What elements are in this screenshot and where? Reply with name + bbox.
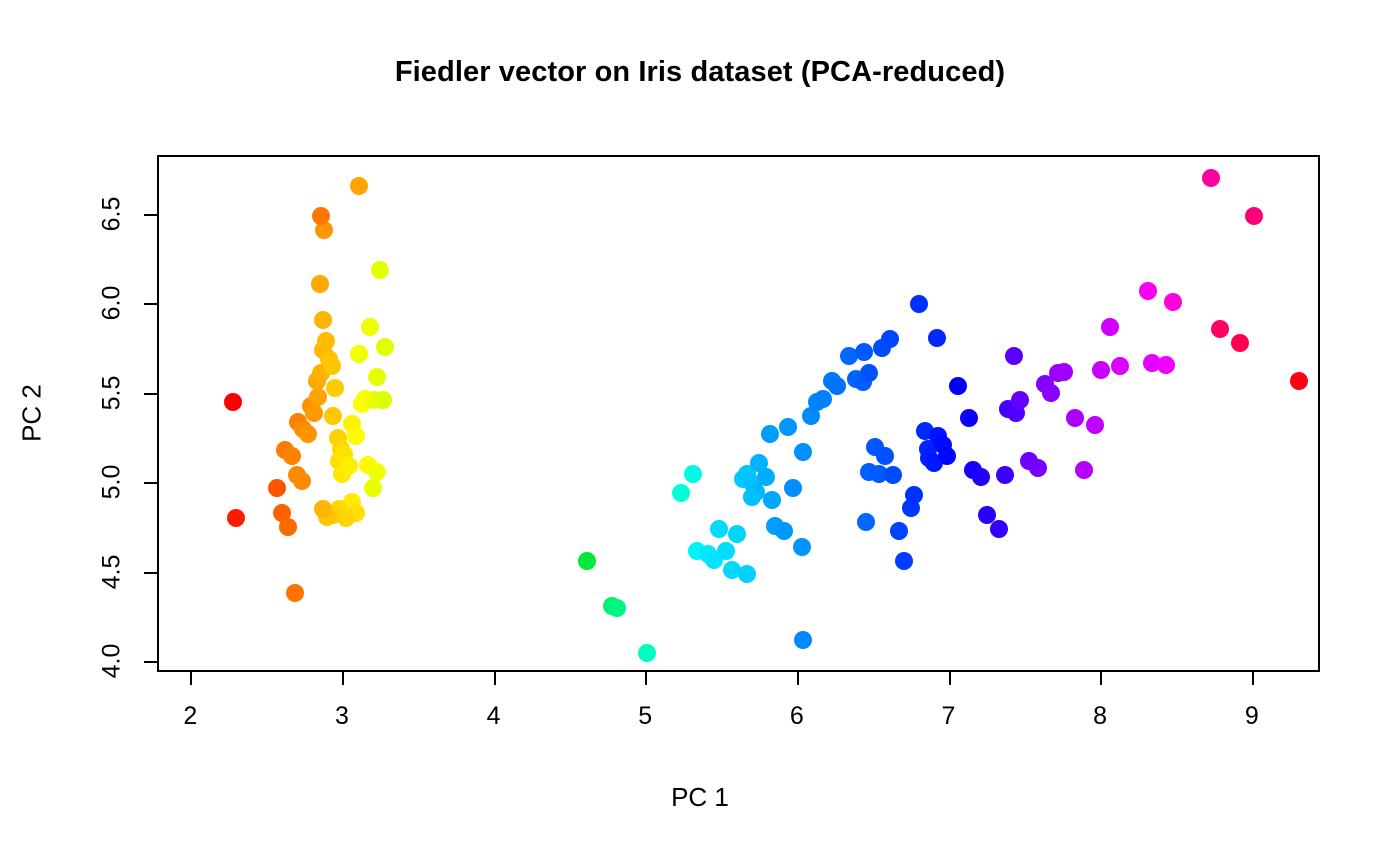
data-point bbox=[340, 457, 358, 475]
data-point bbox=[368, 368, 386, 386]
x-axis-tick-label: 6 bbox=[790, 702, 804, 731]
data-point bbox=[743, 488, 761, 506]
data-point bbox=[311, 275, 329, 293]
data-point bbox=[286, 584, 304, 602]
y-axis-tick bbox=[144, 572, 157, 574]
data-point bbox=[224, 393, 242, 411]
data-point bbox=[1055, 363, 1073, 381]
data-point bbox=[323, 357, 341, 375]
data-point bbox=[1211, 320, 1229, 338]
data-point bbox=[763, 491, 781, 509]
data-point bbox=[1202, 169, 1220, 187]
data-point bbox=[1042, 384, 1060, 402]
data-point bbox=[775, 522, 793, 540]
data-point bbox=[326, 379, 344, 397]
data-point bbox=[1092, 361, 1110, 379]
data-point bbox=[990, 520, 1008, 538]
data-point bbox=[1066, 409, 1084, 427]
x-axis-tick bbox=[1252, 672, 1254, 685]
data-point bbox=[376, 338, 394, 356]
data-point bbox=[1290, 372, 1308, 390]
y-axis-label: PC 2 bbox=[17, 384, 48, 442]
x-axis-tick-label: 3 bbox=[335, 702, 349, 731]
data-point bbox=[309, 388, 327, 406]
data-point bbox=[1157, 356, 1175, 374]
x-axis-label: PC 1 bbox=[0, 782, 1400, 813]
data-point bbox=[717, 542, 735, 560]
data-point bbox=[881, 330, 899, 348]
data-point bbox=[996, 466, 1014, 484]
data-point bbox=[350, 345, 368, 363]
y-axis-tick bbox=[144, 482, 157, 484]
y-axis-tick-label: 4.0 bbox=[98, 644, 127, 679]
data-point bbox=[794, 443, 812, 461]
data-point bbox=[895, 552, 913, 570]
data-point bbox=[337, 509, 355, 527]
x-axis-tick bbox=[494, 672, 496, 685]
data-point bbox=[728, 525, 746, 543]
data-point bbox=[828, 377, 846, 395]
data-point bbox=[314, 311, 332, 329]
y-axis-tick-label: 6.0 bbox=[98, 286, 127, 321]
x-axis-tick-label: 2 bbox=[183, 702, 197, 731]
data-point bbox=[227, 509, 245, 527]
data-point bbox=[1245, 207, 1263, 225]
data-point bbox=[779, 418, 797, 436]
data-point bbox=[710, 520, 728, 538]
data-points-layer bbox=[159, 157, 1318, 670]
data-point bbox=[374, 391, 392, 409]
data-point bbox=[279, 518, 297, 536]
data-point bbox=[890, 522, 908, 540]
data-point bbox=[638, 644, 656, 662]
x-axis-tick-label: 9 bbox=[1245, 702, 1259, 731]
x-axis-tick bbox=[797, 672, 799, 685]
data-point bbox=[283, 447, 301, 465]
data-point bbox=[1005, 347, 1023, 365]
y-axis-tick-label: 5.0 bbox=[98, 465, 127, 500]
data-point bbox=[1086, 416, 1104, 434]
data-point bbox=[1231, 334, 1249, 352]
data-point bbox=[905, 486, 923, 504]
data-point bbox=[972, 468, 990, 486]
data-point bbox=[761, 425, 779, 443]
data-point bbox=[324, 407, 342, 425]
x-axis-tick bbox=[949, 672, 951, 685]
data-point bbox=[960, 409, 978, 427]
data-point bbox=[672, 484, 690, 502]
data-point bbox=[784, 479, 802, 497]
data-point bbox=[949, 377, 967, 395]
x-axis-tick bbox=[645, 672, 647, 685]
y-axis-tick bbox=[144, 303, 157, 305]
y-axis-tick bbox=[144, 393, 157, 395]
y-axis-tick-label: 6.5 bbox=[98, 197, 127, 232]
y-axis-tick bbox=[144, 214, 157, 216]
data-point bbox=[738, 565, 756, 583]
data-point bbox=[314, 500, 332, 518]
data-point bbox=[857, 513, 875, 531]
data-point bbox=[794, 631, 812, 649]
x-axis-tick bbox=[1100, 672, 1102, 685]
data-point bbox=[293, 472, 311, 490]
data-point bbox=[884, 466, 902, 484]
x-axis-tick-label: 5 bbox=[638, 702, 652, 731]
data-point bbox=[1111, 357, 1129, 375]
data-point bbox=[299, 425, 317, 443]
x-axis-tick bbox=[190, 672, 192, 685]
data-point bbox=[1164, 293, 1182, 311]
data-point bbox=[793, 538, 811, 556]
data-point bbox=[757, 468, 775, 486]
data-point bbox=[1101, 318, 1119, 336]
x-axis-tick-label: 7 bbox=[942, 702, 956, 731]
data-point bbox=[364, 479, 382, 497]
data-point bbox=[1029, 459, 1047, 477]
data-point bbox=[347, 427, 365, 445]
data-point bbox=[928, 329, 946, 347]
page-title: Fiedler vector on Iris dataset (PCA-redu… bbox=[0, 56, 1400, 89]
y-axis-tick-label: 4.5 bbox=[98, 554, 127, 589]
data-point bbox=[268, 479, 286, 497]
data-point bbox=[608, 599, 626, 617]
data-point bbox=[684, 465, 702, 483]
data-point bbox=[578, 552, 596, 570]
data-point bbox=[317, 332, 335, 350]
data-point bbox=[1075, 461, 1093, 479]
plot-area-frame bbox=[157, 155, 1320, 672]
y-axis-tick bbox=[144, 661, 157, 663]
y-axis-tick-label: 5.5 bbox=[98, 376, 127, 411]
data-point bbox=[860, 364, 878, 382]
x-axis-tick-label: 8 bbox=[1093, 702, 1107, 731]
data-point bbox=[312, 207, 330, 225]
data-point bbox=[361, 318, 379, 336]
data-point bbox=[305, 404, 323, 422]
data-point bbox=[350, 177, 368, 195]
data-point bbox=[1011, 391, 1029, 409]
x-axis-tick bbox=[342, 672, 344, 685]
scatter-plot-figure: Fiedler vector on Iris dataset (PCA-redu… bbox=[0, 0, 1400, 866]
data-point bbox=[876, 447, 894, 465]
data-point bbox=[910, 295, 928, 313]
data-point bbox=[938, 447, 956, 465]
data-point bbox=[855, 343, 873, 361]
data-point bbox=[1139, 282, 1157, 300]
data-point bbox=[371, 261, 389, 279]
x-axis-tick-label: 4 bbox=[487, 702, 501, 731]
